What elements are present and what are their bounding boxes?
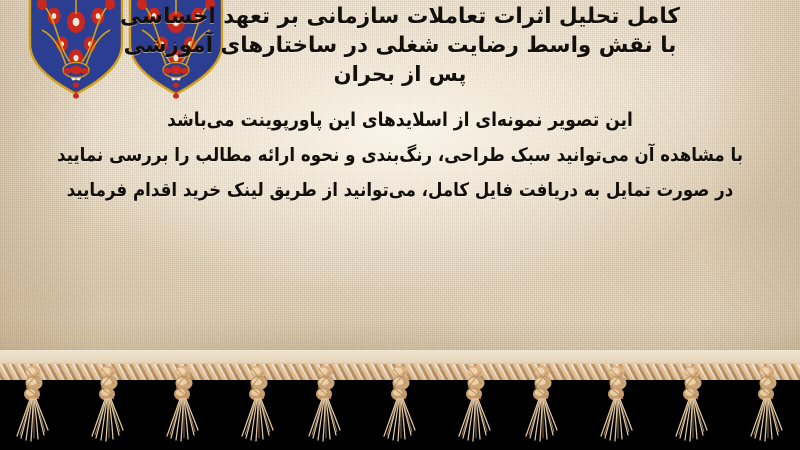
slide-canvas: کامل تحلیل اثرات تعاملات سازمانی بر تعهد… xyxy=(0,0,800,450)
fringe-tassel xyxy=(304,366,350,450)
fringe-tassel xyxy=(232,366,278,450)
fringe-tassel xyxy=(668,366,714,450)
slide-body-block: این تصویر نمونه‌ای از اسلایدهای این پاور… xyxy=(14,107,786,205)
fringe-tassel xyxy=(522,366,568,450)
slide-body-line-3: در صورت تمایل به دریافت فایل کامل، می‌تو… xyxy=(14,178,786,205)
fringe-tassel xyxy=(13,366,59,450)
fringe-tassel xyxy=(450,366,496,450)
carpet-fringe-band xyxy=(0,350,800,450)
fringe-tassel xyxy=(86,366,132,450)
slide-body-line-1: این تصویر نمونه‌ای از اسلایدهای این پاور… xyxy=(14,107,786,134)
slide-title-line-1: کامل تحلیل اثرات تعاملات سازمانی بر تعهد… xyxy=(14,2,786,31)
fringe-tassel xyxy=(741,366,787,450)
fringe-tassel xyxy=(595,366,641,450)
slide-body-line-2: با مشاهده آن می‌توانید سبک طراحی، رنگ‌بن… xyxy=(14,143,786,170)
fringe-tassel xyxy=(377,366,423,450)
slide-title-line-3: پس از بحران xyxy=(14,60,786,89)
slide-text-block: کامل تحلیل اثرات تعاملات سازمانی بر تعهد… xyxy=(0,0,800,250)
slide-title-line-2: با نقش واسط رضایت شغلی در ساختارهای آموز… xyxy=(14,31,786,60)
fringe-tassel xyxy=(159,366,205,450)
